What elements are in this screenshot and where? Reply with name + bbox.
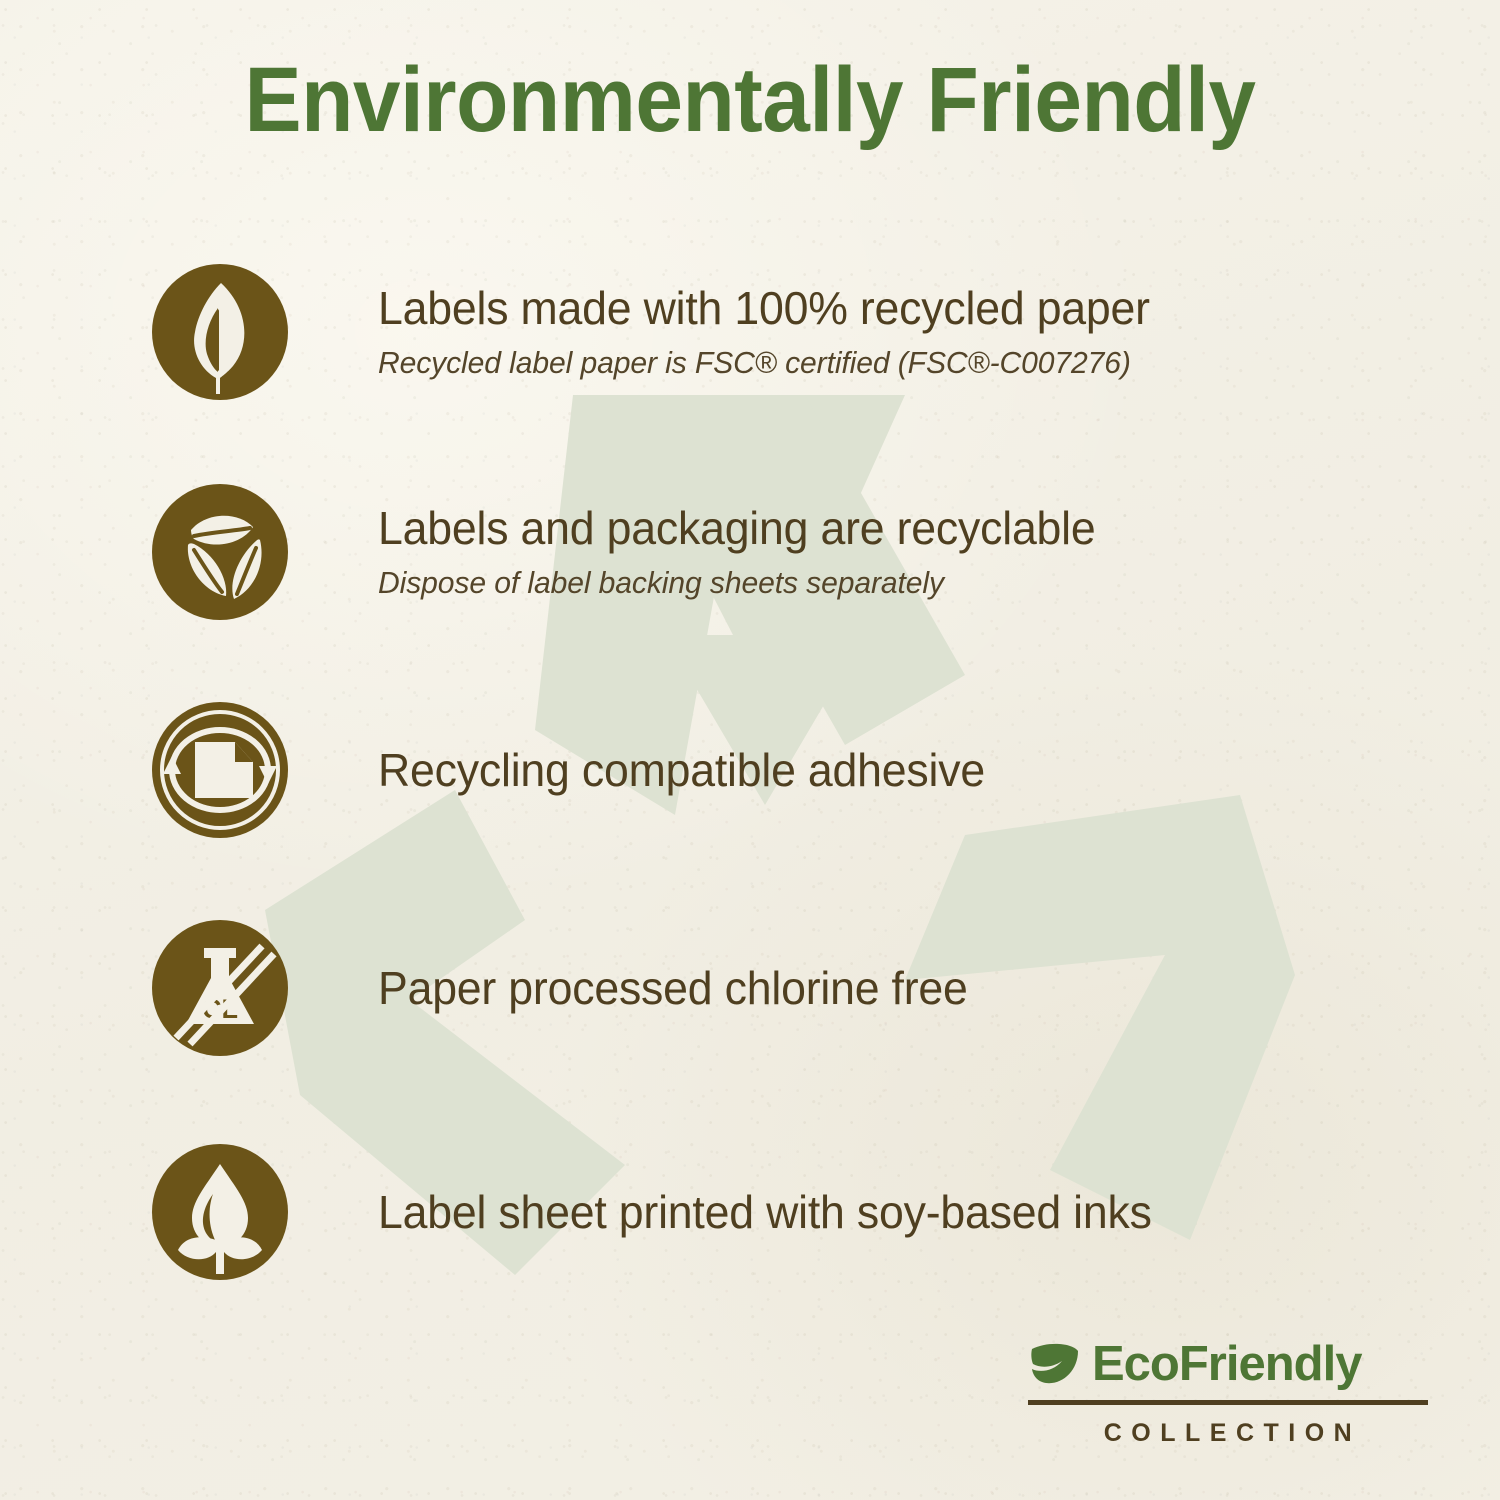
brand-lockup: EcoFriendly COLLECTION — [1028, 1337, 1428, 1448]
feature-row: Recycling compatible adhesive — [150, 700, 1420, 840]
no-chlorine-flask-circle-icon: CL — [150, 918, 290, 1058]
feature-row: Labels made with 100% recycled paper Rec… — [150, 262, 1420, 402]
feature-text: Paper processed chlorine free — [290, 964, 1420, 1012]
feature-title: Recycling compatible adhesive — [378, 746, 1389, 794]
soy-sprout-droplet-circle-icon — [150, 1142, 290, 1282]
eco-friendly-infographic: Environmentally Friendly Labels made wit… — [0, 0, 1500, 1500]
feature-text: Label sheet printed with soy-based inks — [290, 1188, 1420, 1236]
feature-row: CL Paper processed chlorine free — [150, 918, 1420, 1058]
feature-text: Recycling compatible adhesive — [290, 746, 1420, 794]
feature-subtitle: Recycled label paper is FSC® certified (… — [378, 346, 1389, 380]
brand-divider — [1028, 1400, 1428, 1405]
feature-title: Labels made with 100% recycled paper — [378, 284, 1389, 332]
feature-text: Labels and packaging are recyclable Disp… — [290, 504, 1420, 600]
feature-subtitle: Dispose of label backing sheets separate… — [378, 566, 1389, 600]
leaf-circle-icon — [150, 262, 290, 402]
feature-list: Labels made with 100% recycled paper Rec… — [0, 0, 1500, 1500]
brand-top-row: EcoFriendly — [1028, 1337, 1428, 1391]
leaf-icon — [1028, 1337, 1082, 1391]
feature-row: Label sheet printed with soy-based inks — [150, 1142, 1420, 1282]
document-recycle-loop-circle-icon — [150, 700, 290, 840]
three-leaves-recycle-circle-icon — [150, 482, 290, 622]
feature-title: Label sheet printed with soy-based inks — [378, 1188, 1389, 1236]
feature-text: Labels made with 100% recycled paper Rec… — [290, 284, 1420, 380]
brand-name: EcoFriendly — [1092, 1340, 1361, 1389]
feature-title: Labels and packaging are recyclable — [378, 504, 1389, 552]
feature-row: Labels and packaging are recyclable Disp… — [150, 482, 1420, 622]
feature-title: Paper processed chlorine free — [378, 964, 1389, 1012]
brand-tagline: COLLECTION — [1028, 1419, 1428, 1448]
